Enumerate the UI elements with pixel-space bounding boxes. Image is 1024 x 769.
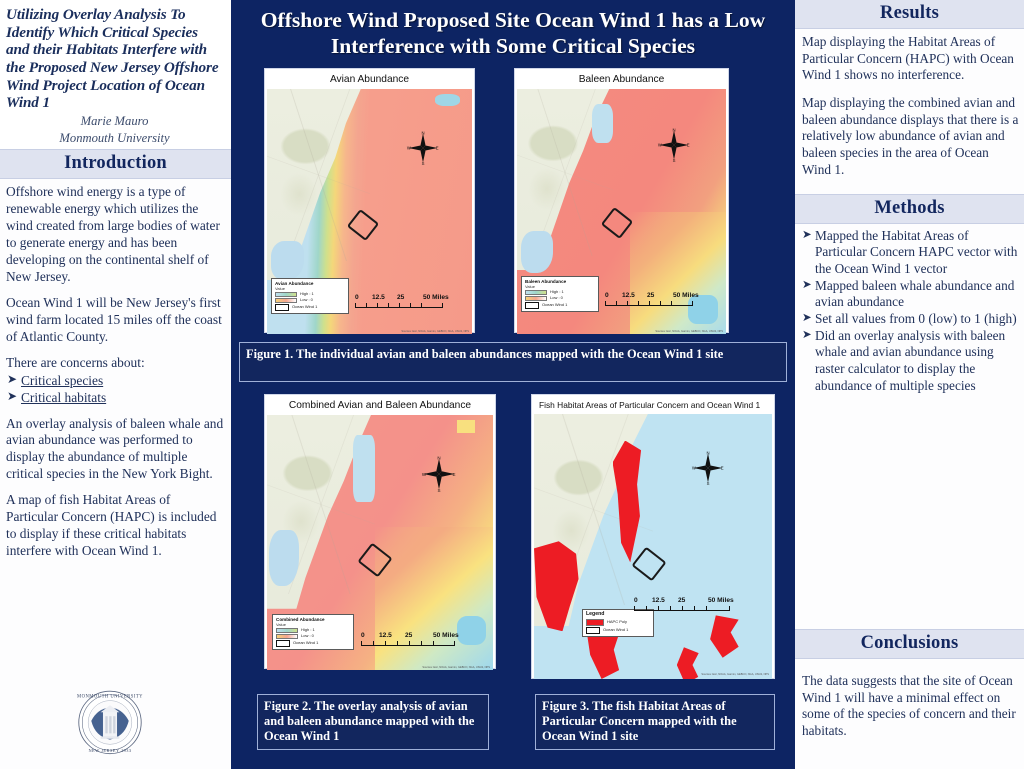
legend-swatch-low: [525, 296, 547, 301]
svg-text:W: W: [692, 466, 696, 471]
bay-water: [521, 231, 552, 273]
legend-label-high: High : 1: [300, 292, 314, 296]
legend-label-high: High : 1: [301, 628, 315, 632]
roads-layer: [267, 89, 370, 261]
author-affiliation: Monmouth University: [6, 131, 223, 146]
map-title: Fish Habitat Areas of Particular Concern…: [534, 397, 772, 414]
legend-label-low: Low : 0: [550, 296, 563, 300]
concern-label: Critical habitats: [21, 390, 106, 405]
svg-text:S: S: [437, 488, 440, 492]
map-figure-baleen: Baleen Abundance N S: [514, 68, 729, 333]
svg-text:MONMOUTH UNIVERSITY: MONMOUTH UNIVERSITY: [77, 694, 143, 699]
svg-text:W: W: [658, 143, 662, 148]
figure-1-caption: Figure 1. The individual avian and balee…: [239, 342, 787, 382]
left-column: Utilizing Overlay Analysis To Identify W…: [0, 0, 231, 769]
introduction-body: Offshore wind energy is a type of renewa…: [0, 179, 231, 560]
arrow-bullet-icon: ➤: [802, 228, 812, 242]
list-item: ➤ Critical species: [6, 373, 224, 390]
svg-text:N: N: [672, 128, 675, 132]
svg-text:S: S: [707, 481, 710, 485]
scale-tick-1: 12.5: [652, 597, 665, 604]
scale-tick-3: 50 Miles: [433, 632, 459, 639]
legend-row-low: Low : 0: [525, 296, 595, 301]
svg-text:E: E: [687, 143, 690, 148]
legend-row-high: High : 1: [525, 290, 595, 295]
map-canvas: N S W E Legend HAPC Poly Ocean: [534, 414, 772, 679]
map-title: Combined Avian and Baleen Abundance: [267, 397, 493, 415]
legend-label-vector: Ocean Wind 1: [292, 305, 317, 309]
results-paragraph-1: Map displaying the Habitat Areas of Part…: [802, 34, 1020, 84]
map-legend: Combined Abundance Value High : 1 Low : …: [272, 614, 354, 650]
legend-label-hapc: HAPC Poly: [607, 620, 627, 624]
legend-row-vector: Ocean Wind 1: [586, 627, 650, 634]
intro-paragraph-3: There are concerns about:: [6, 355, 224, 372]
map-title: Avian Abundance: [267, 71, 472, 89]
intro-paragraph-4: An overlay analysis of baleen whale and …: [6, 416, 224, 484]
scale-tick-3: 50 Miles: [708, 597, 734, 604]
map-source-note: Sources: Esri, NOAA, Garmin, GEBCO, NGA,…: [628, 330, 723, 333]
list-item: ➤ Did an overlay analysis with baleen wh…: [802, 328, 1020, 395]
svg-text:S: S: [673, 158, 676, 162]
method-label: Mapped the Habitat Areas of Particular C…: [815, 228, 1017, 276]
author-name: Marie Mauro: [6, 114, 223, 129]
list-item: ➤ Mapped baleen whale abundance and avia…: [802, 278, 1020, 311]
methods-list: ➤ Mapped the Habitat Areas of Particular…: [802, 228, 1020, 395]
title-block: Utilizing Overlay Analysis To Identify W…: [0, 0, 231, 149]
legend-swatch-high: [525, 290, 547, 295]
scale-tick-1: 12.5: [379, 632, 392, 639]
scale-numbers: 0 12.5 25 50 Miles: [355, 294, 460, 302]
legend-swatch-high: [275, 292, 297, 297]
legend-swatch-low: [275, 298, 297, 303]
legend-row-hapc: HAPC Poly: [586, 619, 650, 626]
legend-label-vector: Ocean Wind 1: [542, 303, 567, 307]
scale-tick-0: 0: [605, 292, 609, 299]
map-title: Baleen Abundance: [517, 71, 726, 89]
scale-numbers: 0 12.5 25 50 Miles: [605, 292, 710, 300]
figure-2-caption: Figure 2. The overlay analysis of avian …: [257, 694, 489, 750]
legend-swatch-hapc: [586, 619, 604, 626]
legend-label-low: Low : 0: [301, 634, 314, 638]
raster-cool-patch: [435, 94, 460, 106]
map-legend: Baleen Abundance Value High : 1 Low : 0 …: [521, 276, 599, 312]
legend-row-vector: Ocean Wind 1: [275, 304, 345, 311]
scale-tick-1: 12.5: [372, 294, 385, 301]
poster-title: Utilizing Overlay Analysis To Identify W…: [6, 6, 223, 112]
legend-row-low: Low : 0: [275, 298, 345, 303]
svg-text:E: E: [436, 145, 439, 150]
scale-tick-2: 25: [647, 292, 654, 299]
legend-row-high: High : 1: [276, 628, 350, 633]
scale-bar: 0 12.5 25 50 Miles: [361, 632, 473, 646]
legend-swatch-low: [276, 634, 298, 639]
map-source-note: Sources: Esri, NOAA, Garmin, GEBCO, NGA,…: [390, 666, 490, 669]
methods-heading: Methods: [795, 194, 1024, 224]
scale-bar: 0 12.5 25 50 Miles: [605, 292, 710, 306]
compass-rose: N S W E: [691, 451, 725, 490]
legend-row-low: Low : 0: [276, 634, 350, 639]
legend-swatch-ocean-wind: [586, 627, 600, 634]
scale-numbers: 0 12.5 25 50 Miles: [634, 597, 746, 605]
scale-line: [355, 302, 443, 308]
raster-offshore-gradient: [375, 527, 493, 670]
intro-paragraph-2: Ocean Wind 1 will be New Jersey's first …: [6, 295, 224, 346]
compass-rose: N S W E: [421, 456, 457, 497]
legend-label-low: Low : 0: [300, 298, 313, 302]
map-canvas: N S W E Baleen Abundance Value High : 1: [517, 89, 726, 334]
raster-inlet: [353, 435, 376, 501]
scale-tick-0: 0: [355, 294, 359, 301]
scale-tick-0: 0: [361, 632, 365, 639]
arrow-bullet-icon: ➤: [802, 278, 812, 292]
svg-text:N: N: [707, 451, 710, 455]
arrow-bullet-icon: ➤: [802, 311, 812, 325]
scale-line: [361, 640, 455, 646]
compass-rose: N S W E: [657, 128, 691, 167]
map-canvas: N S W E Avian Abundance Value High : 1: [267, 89, 472, 334]
center-column: Offshore Wind Proposed Site Ocean Wind 1…: [231, 0, 795, 769]
svg-text:NEW JERSEY 1933: NEW JERSEY 1933: [88, 748, 131, 753]
compass-rose: N S W E: [406, 131, 440, 170]
intro-paragraph-5: A map of fish Habitat Areas of Particula…: [6, 492, 224, 560]
svg-text:E: E: [452, 472, 455, 477]
scale-tick-0: 0: [634, 597, 638, 604]
scale-numbers: 0 12.5 25 50 Miles: [361, 632, 473, 640]
map-legend: Legend HAPC Poly Ocean Wind 1: [582, 609, 654, 637]
conclusions-paragraph-1: The data suggests that the site of Ocean…: [802, 673, 1020, 740]
intro-paragraph-1: Offshore wind energy is a type of renewa…: [6, 184, 224, 286]
scale-tick-2: 25: [397, 294, 404, 301]
list-item: ➤ Set all values from 0 (low) to 1 (high…: [802, 311, 1020, 328]
scale-tick-2: 25: [678, 597, 685, 604]
introduction-heading: Introduction: [0, 149, 231, 179]
concern-label: Critical species: [21, 373, 103, 388]
legend-swatch-ocean-wind: [276, 640, 290, 647]
map-source-note: Sources: Esri, NOAA, Garmin, GEBCO, NGA,…: [379, 330, 469, 333]
legend-row-high: High : 1: [275, 292, 345, 297]
map-figure-combined: Combined Avian and Baleen Abundance: [264, 394, 496, 669]
concerns-list: ➤ Critical species ➤ Critical habitats: [6, 373, 224, 407]
scale-line: [634, 605, 730, 611]
legend-swatch-ocean-wind: [275, 304, 289, 311]
arrow-bullet-icon: ➤: [802, 328, 812, 342]
scale-tick-2: 25: [405, 632, 412, 639]
university-seal-logo: MONMOUTH UNIVERSITY NEW JERSEY 1933: [68, 685, 152, 763]
map-legend: Avian Abundance Value High : 1 Low : 0 O…: [271, 278, 349, 314]
legend-label-vector: Ocean Wind 1: [603, 628, 628, 632]
scale-tick-3: 50 Miles: [423, 294, 449, 301]
map-source-note: Sources: Esri, NOAA, Garmin, GEBCO, NGA,…: [664, 673, 769, 676]
method-label: Did an overlay analysis with baleen whal…: [815, 328, 1005, 393]
arrow-bullet-icon: ➤: [7, 372, 17, 387]
svg-text:N: N: [437, 456, 440, 461]
method-label: Mapped baleen whale abundance and avian …: [815, 278, 1014, 310]
conclusions-body: The data suggests that the site of Ocean…: [795, 668, 1024, 755]
scale-line: [605, 300, 693, 306]
poster-canvas: Utilizing Overlay Analysis To Identify W…: [0, 0, 1024, 769]
svg-text:S: S: [422, 161, 425, 165]
legend-label-vector: Ocean Wind 1: [293, 641, 318, 645]
results-paragraph-2: Map displaying the combined avian and ba…: [802, 95, 1020, 178]
bay-water: [271, 241, 304, 280]
main-title: Offshore Wind Proposed Site Ocean Wind 1…: [231, 0, 795, 65]
map-canvas: N S W E Combined Abundance Value High : …: [267, 415, 493, 670]
bay-water: [269, 530, 298, 586]
map-figure-avian: Avian Abundance N S W: [264, 68, 475, 333]
scale-bar: 0 12.5 25 50 Miles: [634, 597, 746, 611]
scale-bar: 0 12.5 25 50 Miles: [355, 294, 460, 308]
results-body: Map displaying the Habitat Areas of Part…: [795, 29, 1024, 194]
legend-title: Legend: [586, 612, 650, 618]
list-item: ➤ Critical habitats: [6, 390, 224, 407]
raster-inlet: [592, 104, 613, 143]
conclusions-heading: Conclusions: [795, 629, 1024, 659]
scale-tick-3: 50 Miles: [673, 292, 699, 299]
legend-row-vector: Ocean Wind 1: [525, 302, 595, 309]
map-figure-hapc: Fish Habitat Areas of Particular Concern…: [531, 394, 775, 679]
legend-label-high: High : 1: [550, 290, 564, 294]
svg-text:W: W: [422, 472, 427, 477]
scale-tick-1: 12.5: [622, 292, 635, 299]
figure-3-caption: Figure 3. The fish Habitat Areas of Part…: [535, 694, 775, 750]
methods-body: ➤ Mapped the Habitat Areas of Particular…: [795, 224, 1024, 399]
right-column: Results Map displaying the Habitat Areas…: [795, 0, 1024, 769]
arrow-bullet-icon: ➤: [7, 389, 17, 404]
legend-row-vector: Ocean Wind 1: [276, 640, 350, 647]
method-label: Set all values from 0 (low) to 1 (high): [815, 311, 1017, 326]
svg-text:N: N: [422, 131, 425, 135]
legend-swatch-high: [276, 628, 298, 633]
results-heading: Results: [795, 0, 1024, 29]
raster-warm-patch: [457, 420, 475, 433]
svg-text:W: W: [407, 145, 411, 150]
list-item: ➤ Mapped the Habitat Areas of Particular…: [802, 228, 1020, 278]
svg-text:E: E: [721, 466, 724, 471]
legend-swatch-ocean-wind: [525, 302, 539, 309]
